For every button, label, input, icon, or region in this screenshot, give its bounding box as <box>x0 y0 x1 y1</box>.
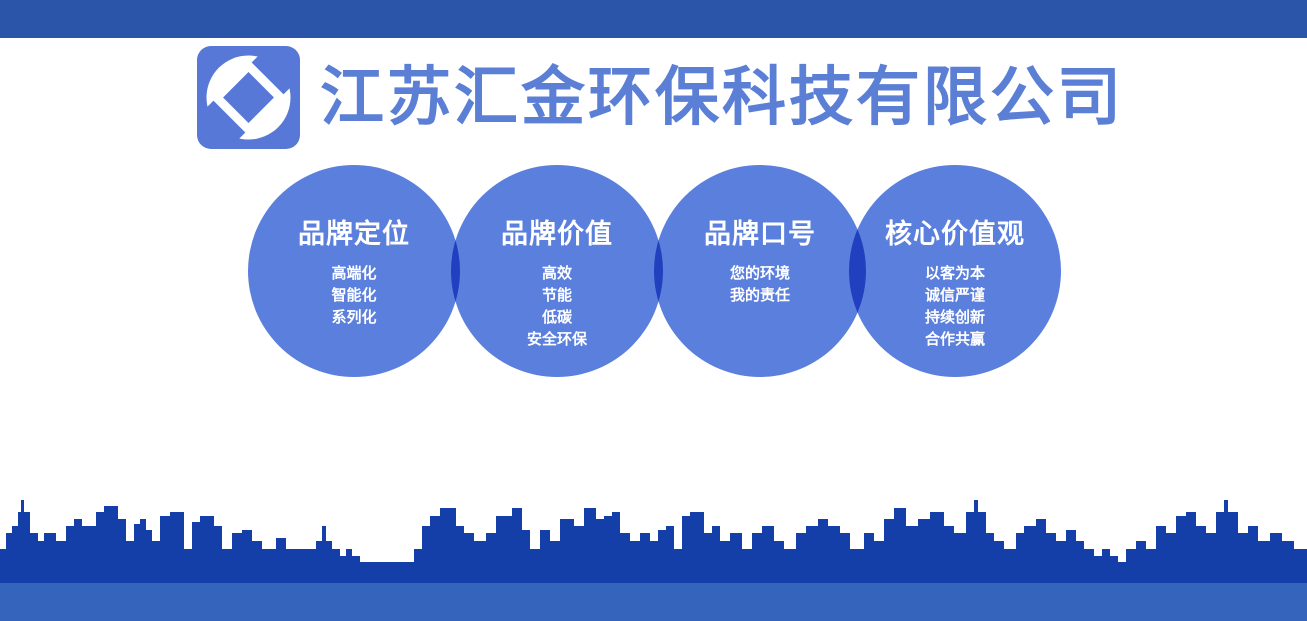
circle-line: 安全环保 <box>527 328 587 350</box>
circle-title: 品牌定位 <box>298 221 410 248</box>
brand-header: 江苏汇金环保科技有限公司 <box>197 46 1124 149</box>
circle-line: 您的环境 <box>730 262 790 284</box>
circle-line: 合作共赢 <box>925 328 985 350</box>
circle-line: 高效 <box>527 262 587 284</box>
circle-line: 低碳 <box>527 306 587 328</box>
circle-line: 以客为本 <box>925 262 985 284</box>
bottom-accent-bar <box>0 583 1307 621</box>
circle-line-list: 高端化 智能化 系列化 <box>331 262 376 328</box>
circle-line: 持续创新 <box>925 306 985 328</box>
circle-line: 我的责任 <box>730 284 790 306</box>
circle-brand-positioning[interactable]: 品牌定位 高端化 智能化 系列化 <box>248 165 460 377</box>
circle-line: 高端化 <box>331 262 376 284</box>
circle-brand-value[interactable]: 品牌价值 高效 节能 低碳 安全环保 <box>451 165 663 377</box>
circle-line: 诚信严谨 <box>925 284 985 306</box>
company-logo-icon <box>197 46 300 149</box>
circle-brand-slogan[interactable]: 品牌口号 您的环境 我的责任 <box>654 165 866 377</box>
top-accent-bar <box>0 0 1307 38</box>
company-name: 江苏汇金环保科技有限公司 <box>320 66 1124 130</box>
circle-line: 系列化 <box>331 306 376 328</box>
brand-circles-group: 品牌定位 高端化 智能化 系列化 品牌价值 高效 节能 低碳 安全环保 品牌口号… <box>0 165 1307 385</box>
city-skyline-icon <box>0 486 1307 586</box>
circle-line: 节能 <box>527 284 587 306</box>
circle-line: 智能化 <box>331 284 376 306</box>
circle-line-list: 以客为本 诚信严谨 持续创新 合作共赢 <box>925 262 985 350</box>
poster-canvas: 江苏汇金环保科技有限公司 品牌定位 高端化 智能化 系列化 品牌价值 高效 节能… <box>0 0 1307 621</box>
circle-core-values[interactable]: 核心价值观 以客为本 诚信严谨 持续创新 合作共赢 <box>849 165 1061 377</box>
circle-title: 品牌价值 <box>501 221 613 248</box>
circle-line-list: 您的环境 我的责任 <box>730 262 790 306</box>
circle-title: 核心价值观 <box>885 221 1025 248</box>
circle-title: 品牌口号 <box>704 221 816 248</box>
circle-line-list: 高效 节能 低碳 安全环保 <box>527 262 587 350</box>
